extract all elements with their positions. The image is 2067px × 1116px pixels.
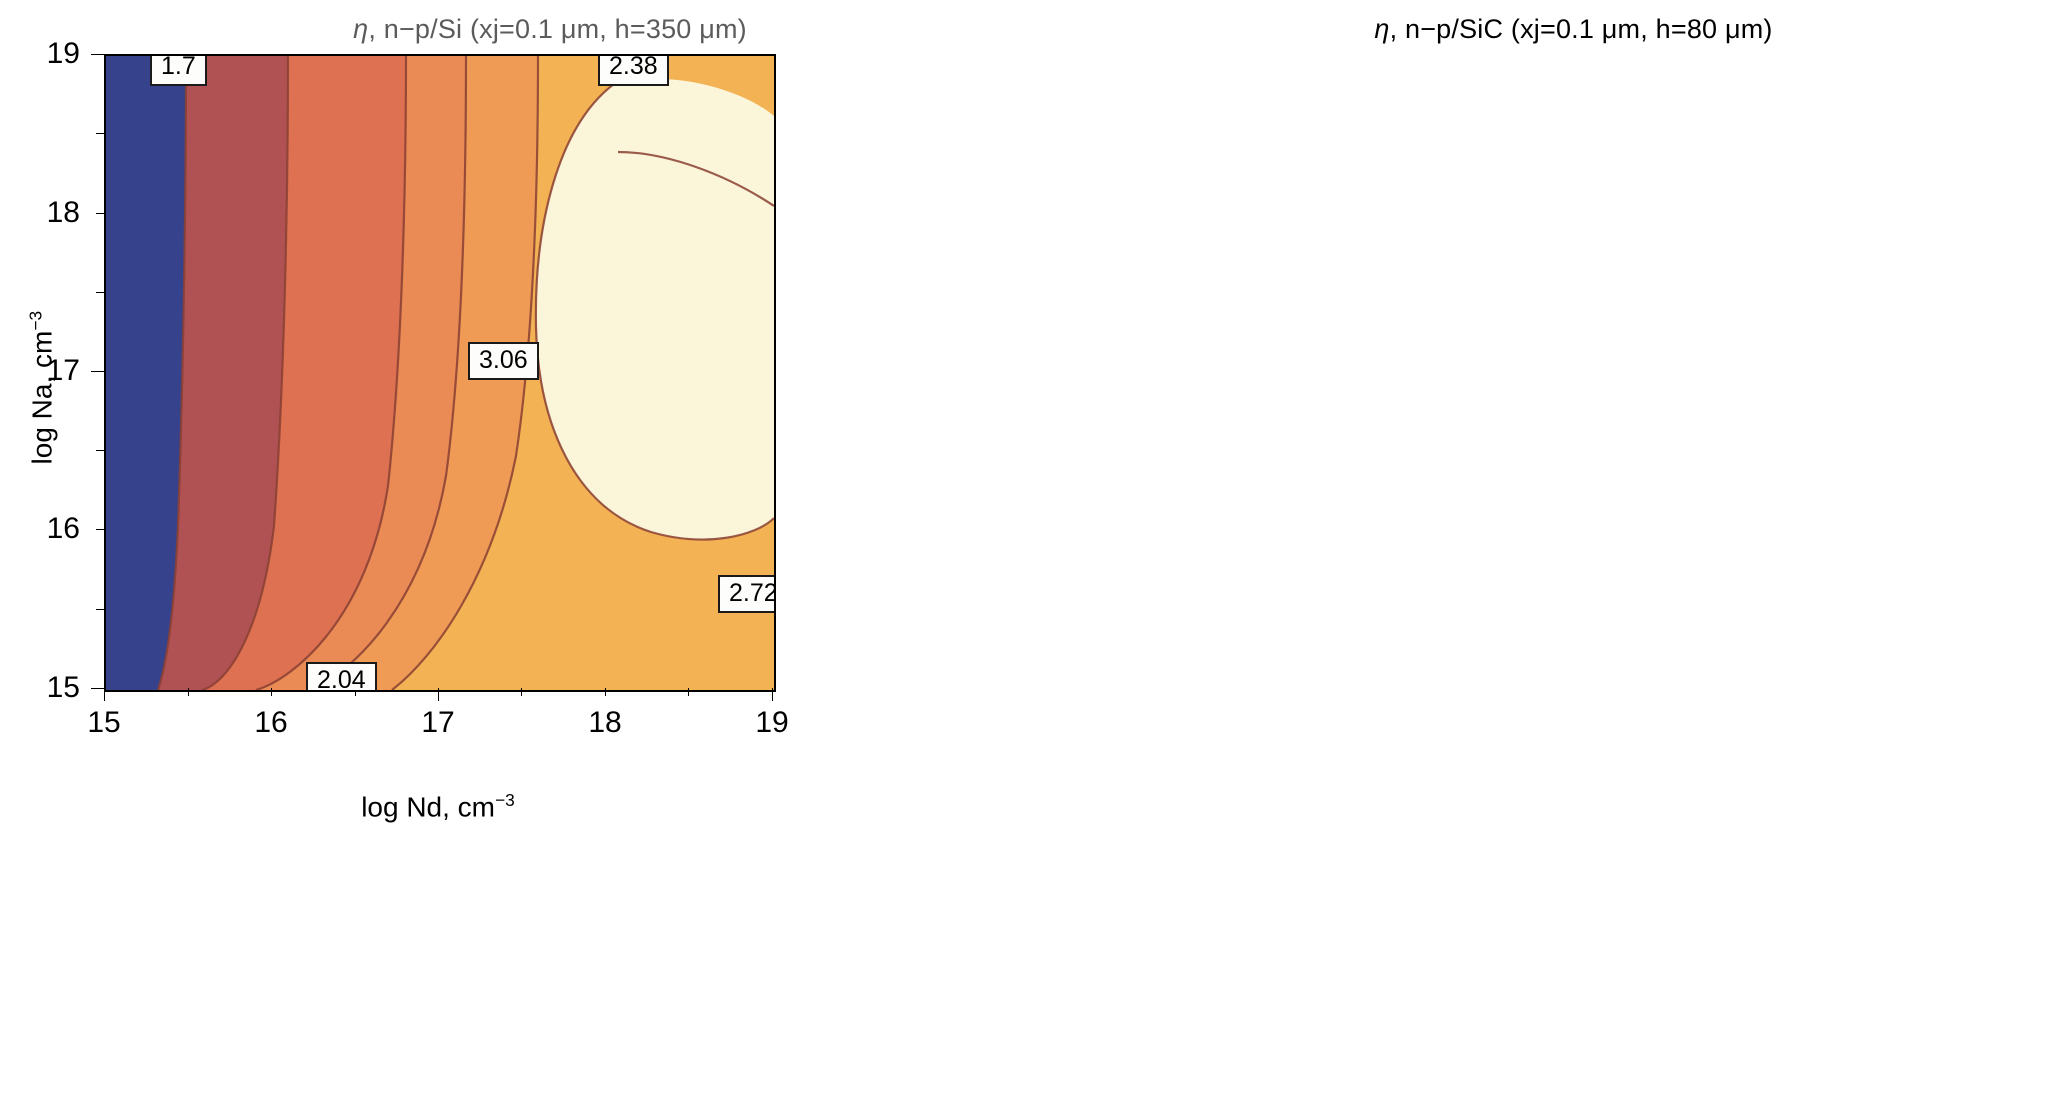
panel-right: η, n−p/SiC (xj=0.1 μm, h=80 μm) [1040, 0, 2067, 1116]
yaxis-title-left-sup: −3 [25, 311, 45, 331]
xtick-label-left-0: 15 [87, 706, 120, 740]
xtick-label-left-2: 17 [421, 706, 454, 740]
xaxis-title-left-text: log Nd, cm [361, 791, 495, 822]
panel-left-title: η, n−p/Si (xj=0.1 μm, h=350 μm) [40, 14, 1060, 45]
xtick-label-left-3: 18 [588, 706, 621, 740]
contour-label-left-4: 2.72 [718, 575, 776, 613]
yaxis-title-left: log Na, cm−3 [25, 258, 58, 518]
contour-label-left-3: 2.38 [598, 54, 669, 86]
contour-label-left-2: 2.04 [306, 662, 377, 692]
xtick-label-left-4: 19 [755, 706, 788, 740]
ytick-label-left-4: 19 [30, 37, 80, 71]
panel-left-title-rest: , n−p/Si (xj=0.1 μm, h=350 μm) [368, 14, 747, 44]
xtick-label-left-1: 16 [254, 706, 287, 740]
contour-label-left-5: 3.06 [468, 342, 539, 380]
panel-left: η, n−p/Si (xj=0.1 μm, h=350 μm) [0, 0, 1020, 1116]
panel-right-title: η, n−p/SiC (xj=0.1 μm, h=80 μm) [1060, 14, 2067, 45]
figure-root: η, n−p/Si (xj=0.1 μm, h=350 μm) [0, 0, 2067, 1116]
contour-surface-left [106, 56, 774, 690]
ytick-label-left-3: 18 [30, 196, 80, 230]
xaxis-title-left: log Nd, cm−3 [104, 790, 772, 823]
panel-right-title-rest: , n−p/SiC (xj=0.1 μm, h=80 μm) [1390, 14, 1773, 44]
contour-label-left-1: 1.7 [150, 54, 207, 86]
plot-area-left: 1.7 2.04 2.38 2.72 3.06 [104, 54, 776, 692]
eta-symbol: η [353, 14, 368, 44]
eta-symbol-right: η [1374, 14, 1389, 44]
yaxis-title-left-text: log Na, cm [27, 331, 58, 465]
xaxis-title-left-sup: −3 [495, 790, 515, 810]
ytick-label-left-0: 15 [30, 671, 80, 705]
